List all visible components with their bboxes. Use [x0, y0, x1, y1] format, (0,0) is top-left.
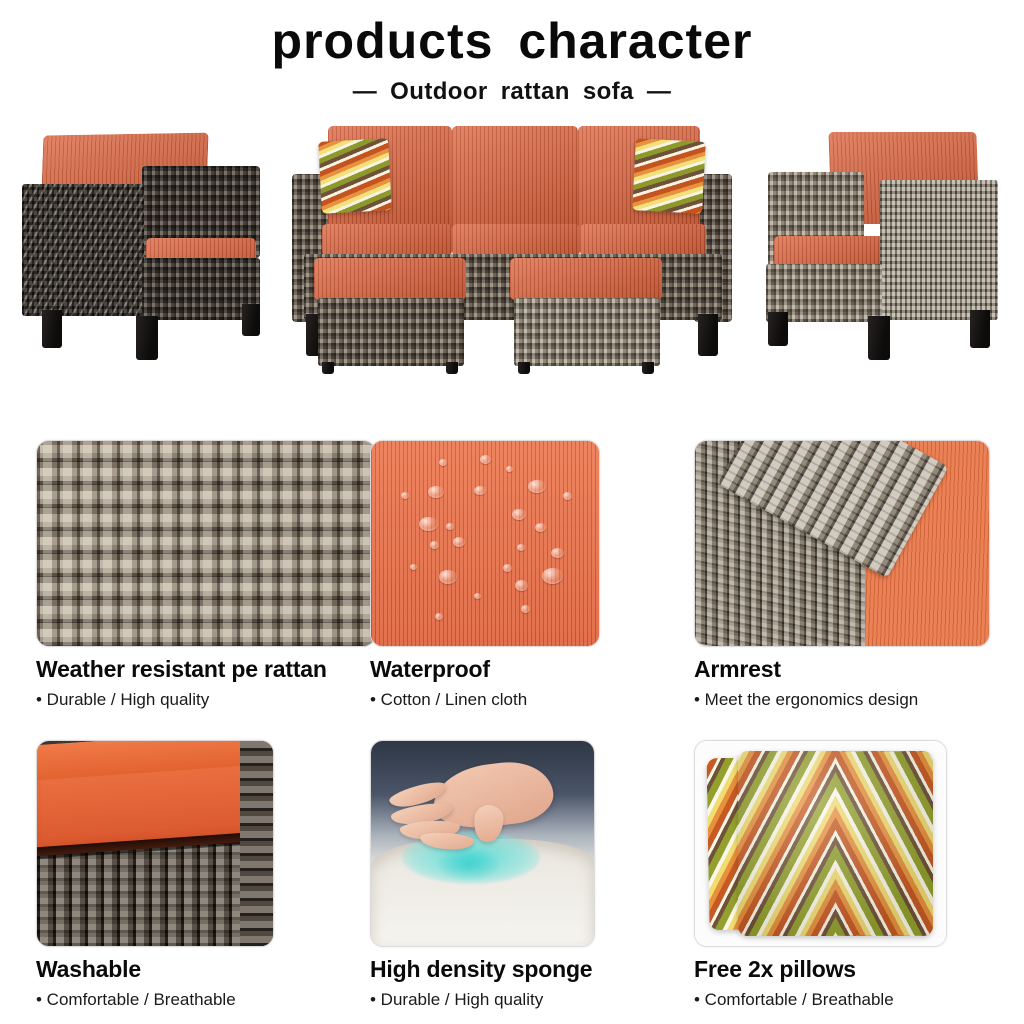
ottoman-right	[510, 258, 662, 374]
water-droplets-on-orange-fabric-photo	[370, 440, 600, 647]
right-armchair-leg-mid	[868, 316, 890, 360]
ottoman-left	[314, 258, 466, 374]
ottoman-right-leg-b	[642, 362, 654, 374]
feature-title: Washable	[36, 956, 350, 983]
sofa-seat-cushion-3	[580, 224, 706, 256]
ottoman-right-leg-a	[518, 362, 530, 374]
page-title: products character	[0, 14, 1024, 68]
feature-cell-waterproof: Waterproof • Cotton / Linen cloth	[350, 440, 678, 740]
left-armchair-leg-back	[136, 316, 158, 360]
feature-title: Armrest	[694, 656, 1024, 683]
left-armchair-leg-right	[242, 304, 260, 336]
feature-title: Waterproof	[370, 656, 678, 683]
left-armchair-side-panel	[22, 184, 144, 316]
right-armchair-leg-right	[970, 310, 990, 348]
sofa-back-cushion-2	[452, 126, 578, 234]
feature-cell-armrest: Armrest • Meet the ergonomics design	[678, 440, 1024, 740]
chevron-throw-pillow-left	[318, 138, 392, 214]
feature-cell-weather-resistant-pe-rattan: Weather resistant pe rattan • Durable / …	[0, 440, 350, 740]
right-armchair	[752, 118, 1012, 368]
feature-subtitle: • Comfortable / Breathable	[36, 990, 350, 1010]
hand-pressing-memory-foam-photo	[370, 740, 595, 947]
sofa-seat-cushion-2	[452, 224, 580, 256]
feature-subtitle: • Durable / High quality	[370, 990, 678, 1010]
hero-product-photo	[0, 118, 1024, 378]
feature-subtitle: • Comfortable / Breathable	[694, 990, 1024, 1010]
chevron-pattern-pillows-photo	[694, 740, 947, 947]
feature-title: Weather resistant pe rattan	[36, 656, 350, 683]
left-armchair-leg-front	[42, 310, 62, 348]
feature-cell-high-density-sponge: High density sponge • Durable / High qua…	[350, 740, 678, 1024]
product-feature-infographic: products character — Outdoor rattan sofa…	[0, 0, 1024, 1024]
sofa-leg-right	[698, 314, 718, 356]
ottoman-left-leg-a	[322, 362, 334, 374]
sofa-seat-cushion-1	[322, 224, 452, 256]
feature-grid: Weather resistant pe rattan • Durable / …	[0, 440, 1024, 1024]
right-armchair-leg-front	[768, 312, 788, 346]
orange-cushion-on-rattan-photo	[36, 740, 274, 947]
feature-title: High density sponge	[370, 956, 678, 983]
feature-subtitle: • Durable / High quality	[36, 690, 350, 710]
feature-row-bottom: Washable • Comfortable / Breathable	[0, 740, 1024, 1024]
feature-title: Free 2x pillows	[694, 956, 1024, 983]
three-seat-sofa	[292, 118, 732, 376]
feature-subtitle: • Cotton / Linen cloth	[370, 690, 678, 710]
feature-cell-washable: Washable • Comfortable / Breathable	[0, 740, 350, 1024]
left-armchair	[14, 118, 274, 368]
page-subtitle: — Outdoor rattan sofa —	[0, 78, 1024, 106]
ottoman-right-frame	[514, 298, 660, 366]
right-armchair-side-panel	[880, 180, 998, 320]
ottoman-left-leg-b	[446, 362, 458, 374]
ottoman-left-frame	[318, 298, 464, 366]
rattan-weave-closeup-photo	[36, 440, 376, 647]
feature-cell-free-2x-pillows: Free 2x pillows • Comfortable / Breathab…	[678, 740, 1024, 1024]
feature-subtitle: • Meet the ergonomics design	[694, 690, 1024, 710]
chevron-throw-pillow-right	[632, 138, 706, 214]
woven-armrest-corner-photo	[694, 440, 990, 647]
feature-row-top: Weather resistant pe rattan • Durable / …	[0, 440, 1024, 740]
ottoman-left-cushion	[314, 258, 466, 300]
ottoman-right-cushion	[510, 258, 662, 300]
pillow-front	[738, 751, 934, 936]
header: products character — Outdoor rattan sofa…	[0, 0, 1024, 106]
